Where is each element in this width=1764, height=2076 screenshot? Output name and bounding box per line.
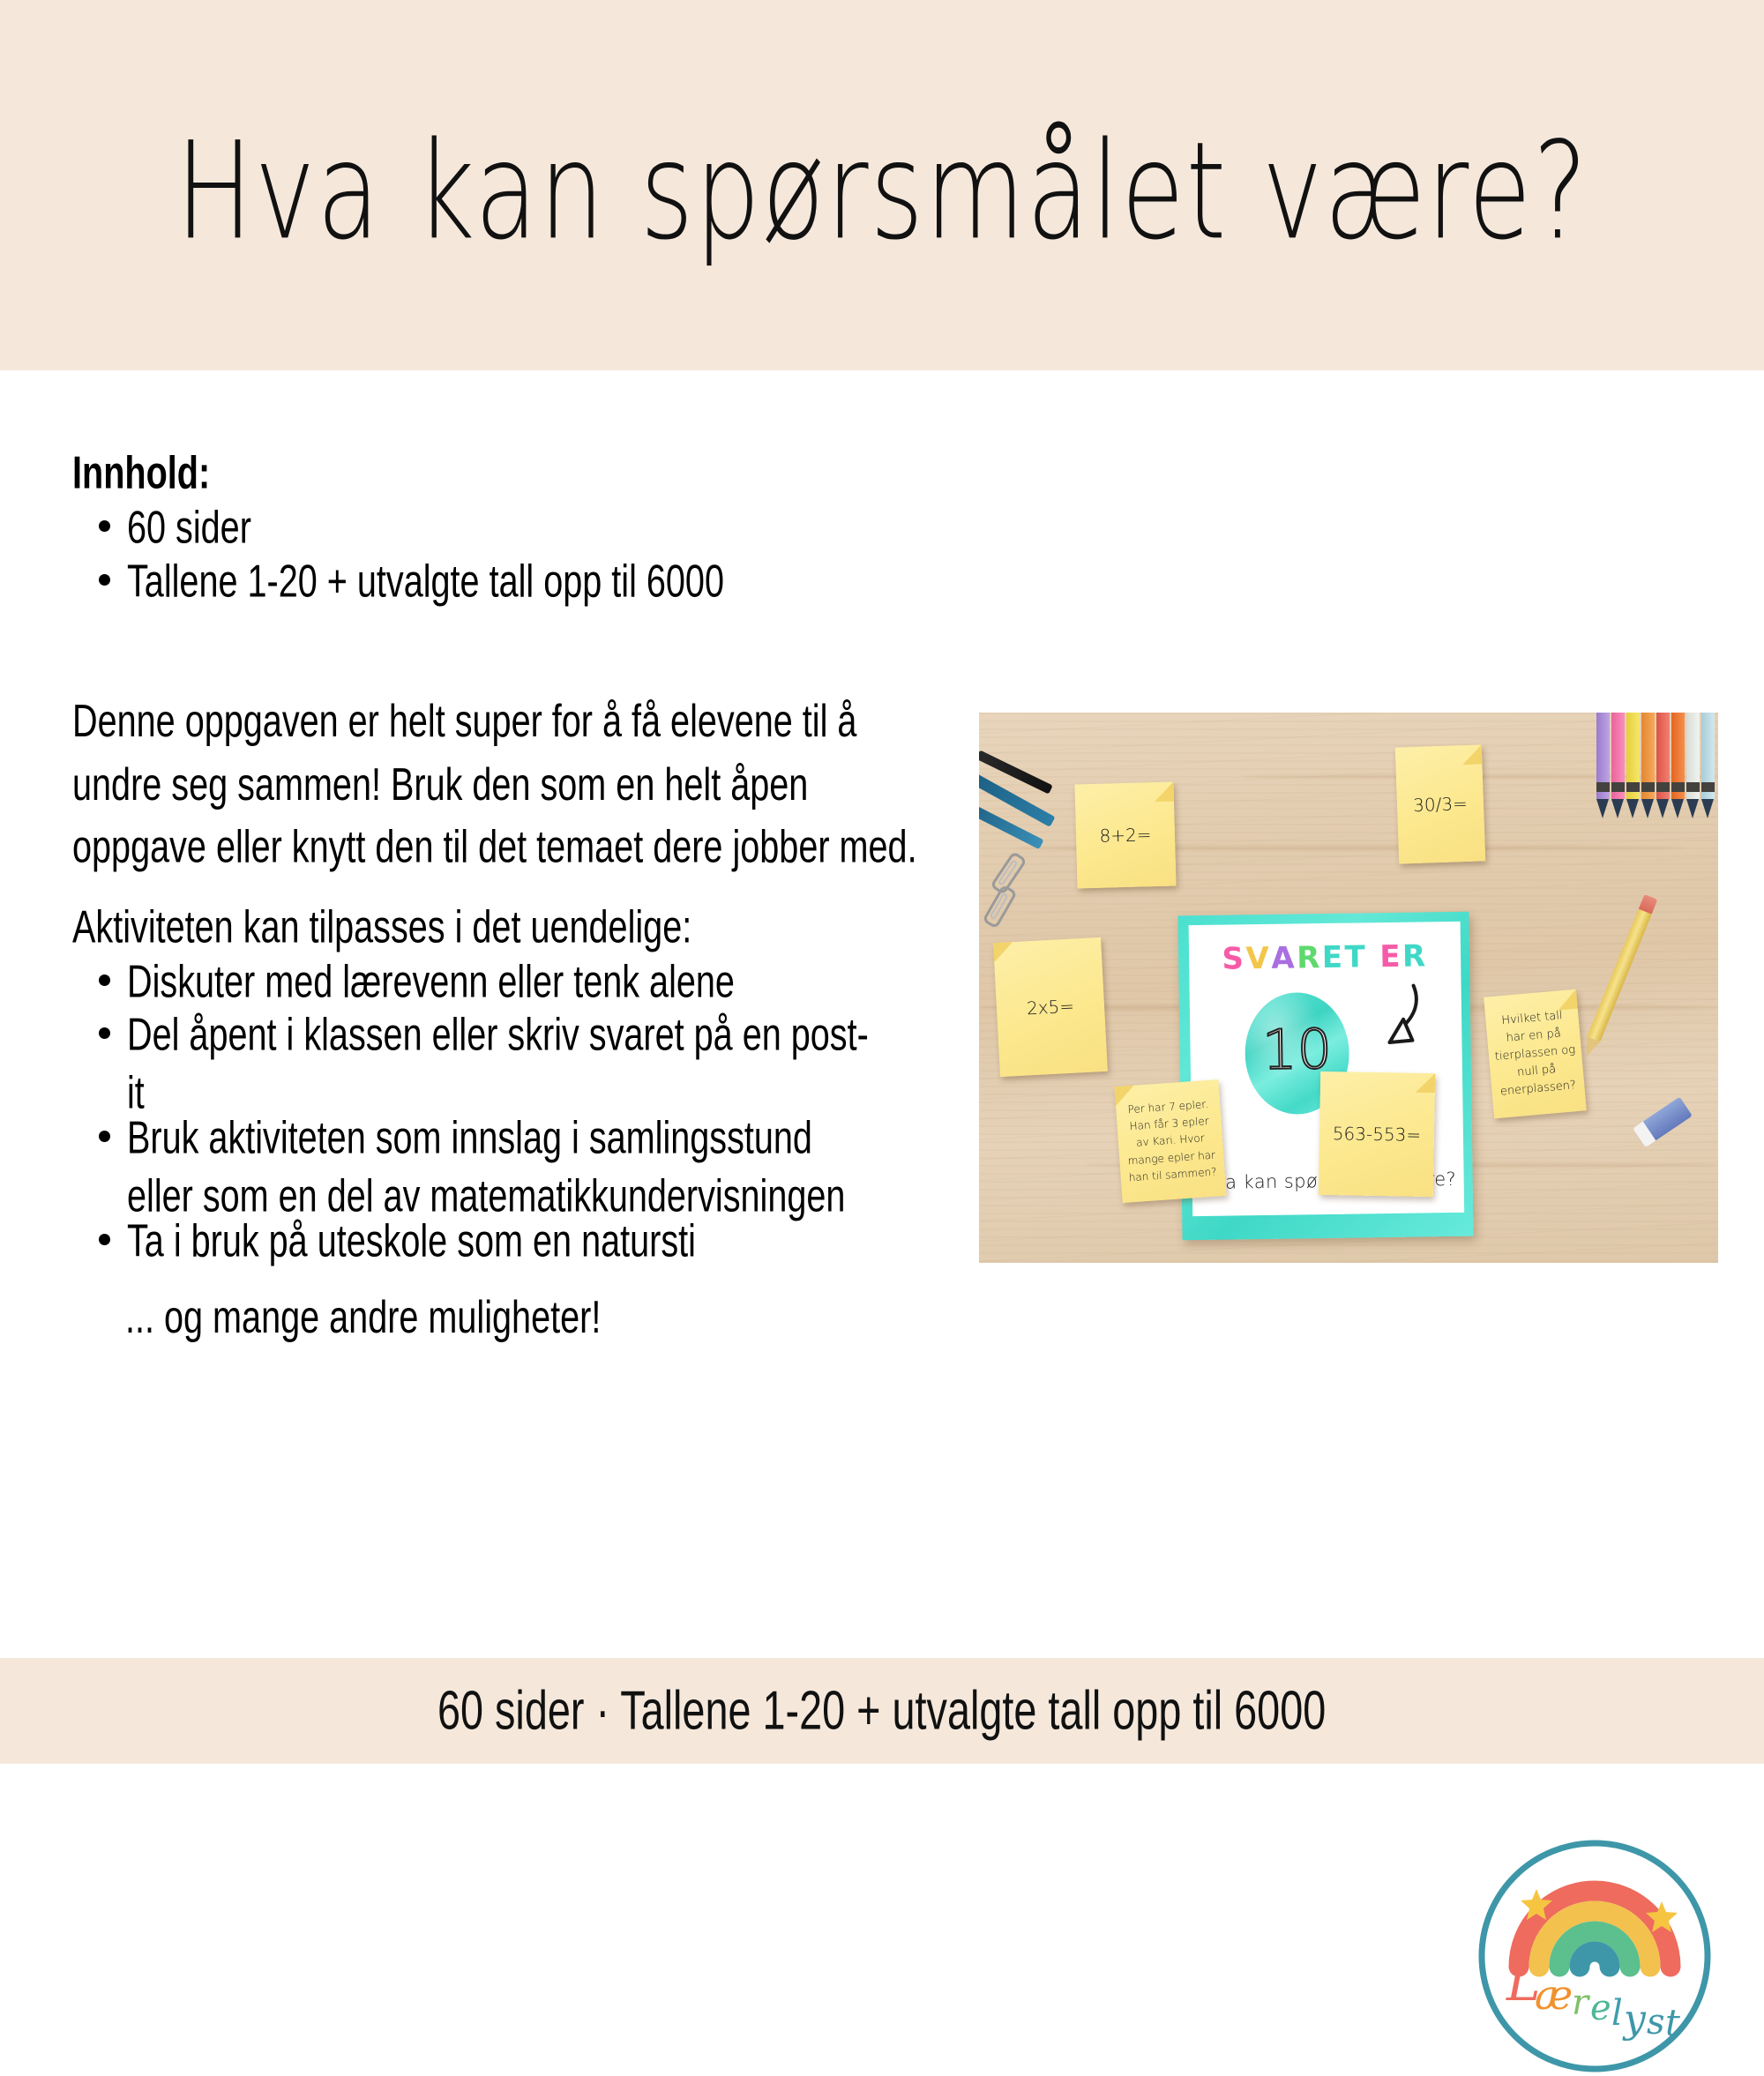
heading-letter: R	[1297, 943, 1322, 973]
crayon-icon	[1641, 713, 1655, 799]
sticky-note: 563-553=	[1319, 1072, 1435, 1197]
sticky-note: 8+2=	[1074, 782, 1176, 889]
heading-letter: R	[1402, 941, 1428, 971]
innhold-label: Innhold:	[72, 450, 866, 498]
svg-text:l: l	[1611, 1993, 1623, 2034]
crayon-icon	[1656, 713, 1670, 799]
footer-band: 60 sider · Tallene 1-20 + utvalgte tall …	[0, 1658, 1764, 1764]
sticky-note: Hvilket tall har en på tierplassen og nu…	[1484, 989, 1587, 1119]
sticky-note: 2x5=	[993, 937, 1108, 1077]
svg-text:t: t	[1665, 2001, 1680, 2044]
list-item-label: Tallene 1-20 + utvalgte tall opp til 600…	[127, 553, 871, 611]
list-item: 60 sider	[72, 499, 954, 549]
heading-letter: T	[1344, 942, 1367, 972]
list-item: Tallene 1-20 + utvalgte tall opp til 600…	[72, 553, 954, 602]
heading-letter: E	[1322, 943, 1345, 973]
svaret-er-heading: SVARETER	[1189, 941, 1461, 975]
crayon-set	[1596, 713, 1718, 822]
list-item-label: Bruk aktiviteten som innslag i samlingss…	[127, 1109, 871, 1227]
eraser-icon	[1641, 1097, 1693, 1142]
list-item: Del åpent i klassen eller skriv svaret p…	[72, 1006, 954, 1106]
crayon-icon	[1596, 713, 1610, 799]
closing-text: ... og mange andre muligheter!	[125, 1292, 871, 1344]
crayon-icon	[1701, 713, 1715, 799]
list-item: Bruk aktiviteten som innslag i samlingss…	[72, 1109, 954, 1209]
crayon-icon	[1611, 713, 1625, 799]
page-title: Hva kan spørsmålet være?	[176, 124, 1588, 259]
intro-paragraph: Denne oppgaven er helt super for å få el…	[72, 691, 930, 880]
svg-text:s: s	[1647, 2002, 1665, 2042]
heading-letter: V	[1245, 944, 1271, 974]
list-item-label: Diskuter med lærevenn eller tenk alene	[127, 953, 871, 1012]
footer-text: 60 sider · Tallene 1-20 + utvalgte tall …	[437, 1684, 1326, 1738]
pencil-icon	[1587, 909, 1651, 1042]
header-band: Hva kan spørsmålet være?	[0, 0, 1764, 370]
list-item: Ta i bruk på uteskole som en natursti	[72, 1213, 954, 1262]
answer-number: 10	[1245, 1022, 1349, 1079]
list-item-label: Ta i bruk på uteskole som en natursti	[127, 1213, 871, 1271]
crayon-icon	[1686, 713, 1700, 799]
svg-text:æ: æ	[1535, 1971, 1573, 2019]
main-content: Innhold: 60 sider Tallene 1-20 + utvalgt…	[0, 370, 1764, 1658]
product-preview-image: SVARETER 10 Hva kan spørsmålet være? 8+2…	[979, 713, 1718, 1263]
heading-letter: S	[1222, 944, 1245, 974]
svg-text:e: e	[1590, 1988, 1611, 2028]
heading-letter: E	[1379, 942, 1402, 972]
sticky-note: Per har 7 epler. Han får 3 epler av Kari…	[1115, 1079, 1227, 1203]
curved-arrow-icon	[1363, 980, 1427, 1060]
paperclip-icon	[982, 884, 1017, 929]
list-item: Diskuter med lærevenn eller tenk alene	[72, 953, 954, 1003]
svg-text:y: y	[1622, 1997, 1647, 2042]
innhold-list: 60 sider Tallene 1-20 + utvalgte tall op…	[72, 499, 954, 602]
crayon-icon	[1671, 713, 1685, 799]
crayon-icon	[1626, 713, 1640, 799]
activity-label: Aktiviteten kan tilpasses i det uendelig…	[72, 904, 866, 952]
brand-logo: L æ r e l y s t	[1475, 1836, 1715, 2076]
svg-text:r: r	[1572, 1983, 1591, 2023]
sticky-note: 30/3=	[1395, 744, 1486, 863]
text-column: Innhold: 60 sider Tallene 1-20 + utvalgt…	[72, 450, 954, 1336]
activity-list: Diskuter med lærevenn eller tenk alene D…	[72, 953, 954, 1262]
spacer	[72, 606, 954, 691]
heading-letter: A	[1271, 943, 1297, 973]
list-item-label: Del åpent i klassen eller skriv svaret p…	[127, 1006, 871, 1124]
list-item-label: 60 sider	[127, 499, 871, 557]
